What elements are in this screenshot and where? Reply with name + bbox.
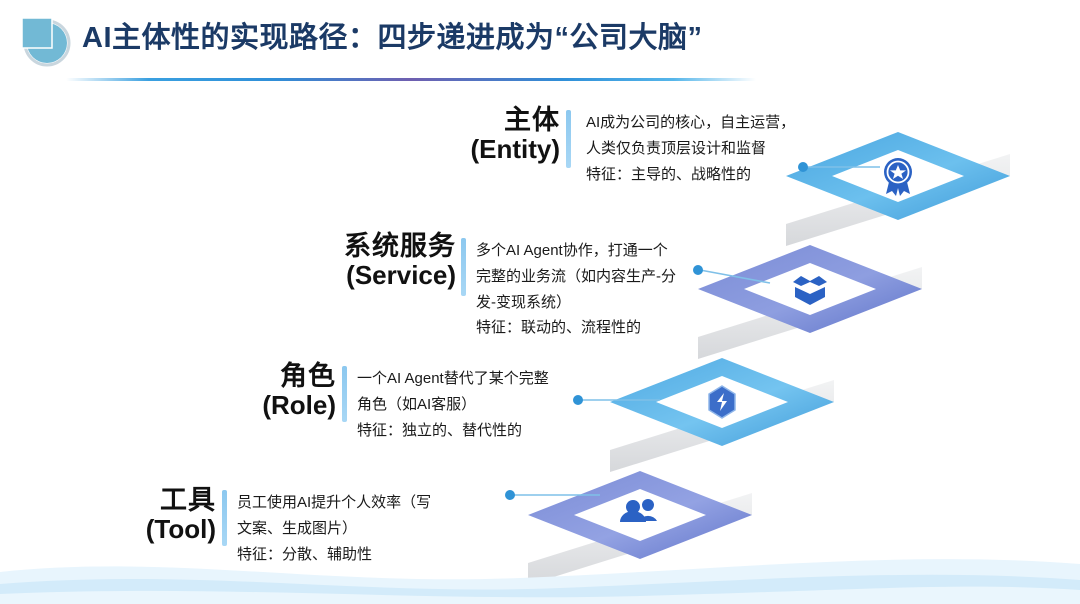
tier-tool-label-cn: 工具 bbox=[88, 486, 216, 515]
tier-service-desc-line-2: 完整的业务流（如内容生产-分 bbox=[476, 264, 676, 290]
step-role bbox=[610, 358, 834, 472]
tier-tool-desc-line-3: 特征：分散、辅助性 bbox=[237, 542, 431, 568]
tier-service-label-cn: 系统服务 bbox=[288, 232, 456, 261]
tier-entity-label: 主体 (Entity) bbox=[420, 106, 560, 163]
step-service bbox=[698, 245, 922, 359]
tier-entity-desc-line-3: 特征：主导的、战略性的 bbox=[586, 162, 795, 188]
tier-service-label-en: (Service) bbox=[288, 261, 456, 289]
tier-role-label-cn: 角色 bbox=[200, 362, 336, 391]
tier-service-label: 系统服务 (Service) bbox=[288, 232, 456, 289]
tier-entity-desc-line-2: 人类仅负责顶层设计和监督 bbox=[586, 136, 795, 162]
tier-role-desc-line-2: 角色（如AI客服） bbox=[357, 392, 549, 418]
tier-tool-description: 员工使用AI提升个人效率（写 文案、生成图片） 特征：分散、辅助性 bbox=[237, 490, 431, 567]
tier-entity-desc-line-1: AI成为公司的核心，自主运营， bbox=[586, 110, 795, 136]
lightning-hexagon-icon bbox=[709, 386, 735, 418]
tier-role-description: 一个AI Agent替代了某个完整 角色（如AI客服） 特征：独立的、替代性的 bbox=[357, 366, 549, 443]
tier-role-desc-line-3: 特征：独立的、替代性的 bbox=[357, 418, 549, 444]
tier-tool-accent-bar bbox=[222, 490, 227, 546]
tier-service-accent-bar bbox=[461, 238, 466, 296]
tier-role-label-en: (Role) bbox=[200, 391, 336, 419]
tier-role-accent-bar bbox=[342, 366, 347, 422]
tier-entity-description: AI成为公司的核心，自主运营， 人类仅负责顶层设计和监督 特征：主导的、战略性的 bbox=[586, 110, 795, 187]
tier-role-label: 角色 (Role) bbox=[200, 362, 336, 419]
tier-tool-desc-line-1: 员工使用AI提升个人效率（写 bbox=[237, 490, 431, 516]
tier-entity-accent-bar bbox=[566, 110, 571, 168]
tier-service-description: 多个AI Agent协作，打通一个 完整的业务流（如内容生产-分 发-变现系统）… bbox=[476, 238, 676, 341]
tier-service-desc-line-4: 特征：联动的、流程性的 bbox=[476, 315, 676, 341]
tier-entity-label-cn: 主体 bbox=[420, 106, 560, 135]
tier-service-desc-line-1: 多个AI Agent协作，打通一个 bbox=[476, 238, 676, 264]
tier-role-desc-line-1: 一个AI Agent替代了某个完整 bbox=[357, 366, 549, 392]
slide-canvas: AI主体性的实现路径：四步递进成为“公司大脑” bbox=[0, 0, 1080, 604]
tier-entity-label-en: (Entity) bbox=[420, 135, 560, 163]
tier-tool-label-en: (Tool) bbox=[88, 515, 216, 543]
step-tool bbox=[528, 471, 752, 585]
tier-tool-desc-line-2: 文案、生成图片） bbox=[237, 516, 431, 542]
tier-tool-label: 工具 (Tool) bbox=[88, 486, 216, 543]
step-entity bbox=[786, 132, 1010, 246]
tier-service-desc-line-3: 发-变现系统） bbox=[476, 290, 676, 316]
